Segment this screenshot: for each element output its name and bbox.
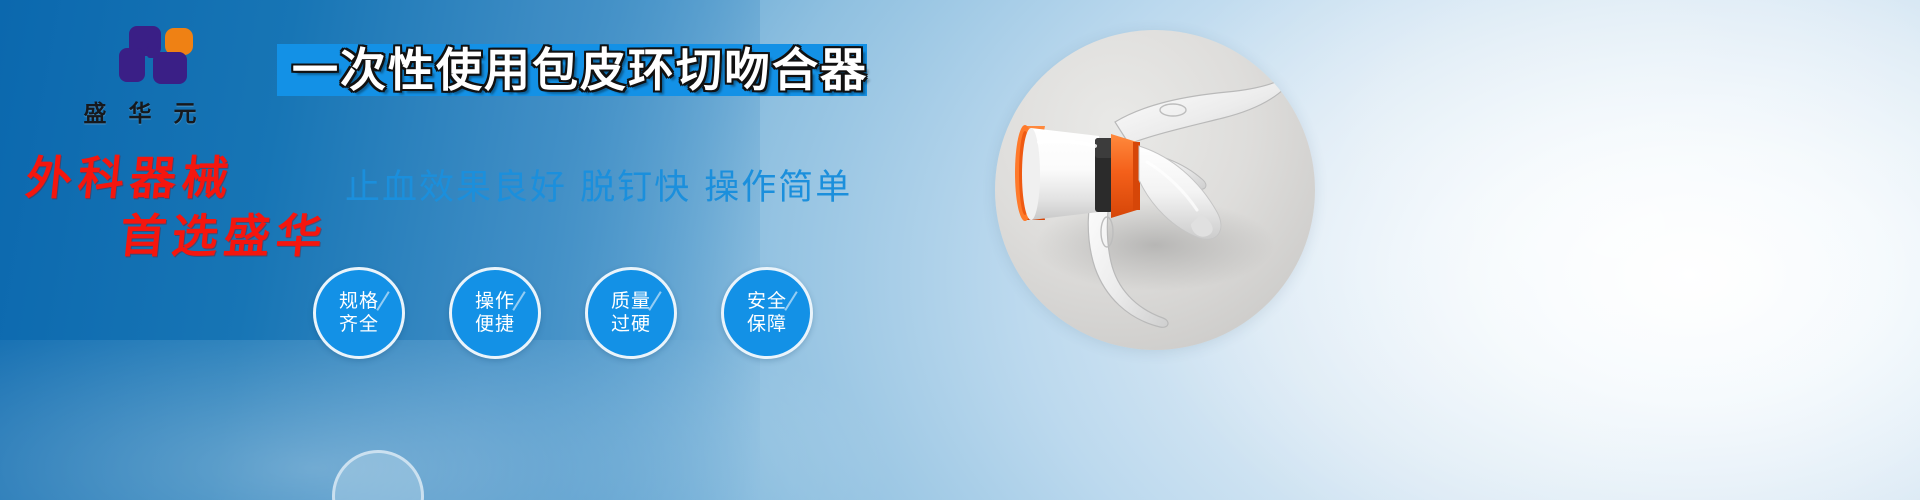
- page-title: 一次性使用包皮环切吻合器: [292, 42, 868, 98]
- subtitle-text: 止血效果良好 脱钉快 操作简单: [345, 166, 852, 210]
- feature-badge[interactable]: 规格 齐全: [313, 267, 405, 359]
- product-illustration: [995, 30, 1315, 350]
- slogan-line-2: 首选盛华: [117, 210, 330, 262]
- logo-square-left: [119, 48, 145, 82]
- badge-label-line1: 质量: [611, 290, 651, 313]
- background-bottom-glow: [0, 340, 900, 500]
- logo-square-top-right-orange: [165, 28, 193, 55]
- badge-label-line1: 操作: [475, 290, 515, 313]
- badge-label-line1: 规格: [339, 290, 379, 313]
- logo-square-center: [147, 46, 159, 58]
- feature-badge[interactable]: 质量 过硬: [585, 267, 677, 359]
- feature-badge[interactable]: 安全 保障: [721, 267, 813, 359]
- logo-mark-icon: [101, 26, 179, 88]
- product-photo: [995, 30, 1315, 350]
- brand-name-text: 盛 华 元: [60, 94, 220, 128]
- feature-badge[interactable]: 操作 便捷: [449, 267, 541, 359]
- slogan-calligraphy: 外科器械 首选盛华: [22, 152, 328, 262]
- badge-label-line2: 保障: [747, 313, 787, 336]
- promo-banner: 盛 华 元 一次性使用包皮环切吻合器 外科器械 首选盛华 止血效果良好 脱钉快 …: [0, 0, 1920, 500]
- feature-badge-group: 规格 齐全 操作 便捷 质量 过硬 安全 保障: [313, 267, 813, 359]
- badge-label-line2: 齐全: [339, 313, 379, 336]
- badge-label-line2: 便捷: [475, 313, 515, 336]
- decorative-bottom-circle: [332, 450, 424, 500]
- slogan-line-1: 外科器械: [23, 152, 330, 204]
- badge-label-line1: 安全: [747, 290, 787, 313]
- brand-logo[interactable]: 盛 华 元: [60, 26, 220, 128]
- badge-label-line2: 过硬: [611, 313, 651, 336]
